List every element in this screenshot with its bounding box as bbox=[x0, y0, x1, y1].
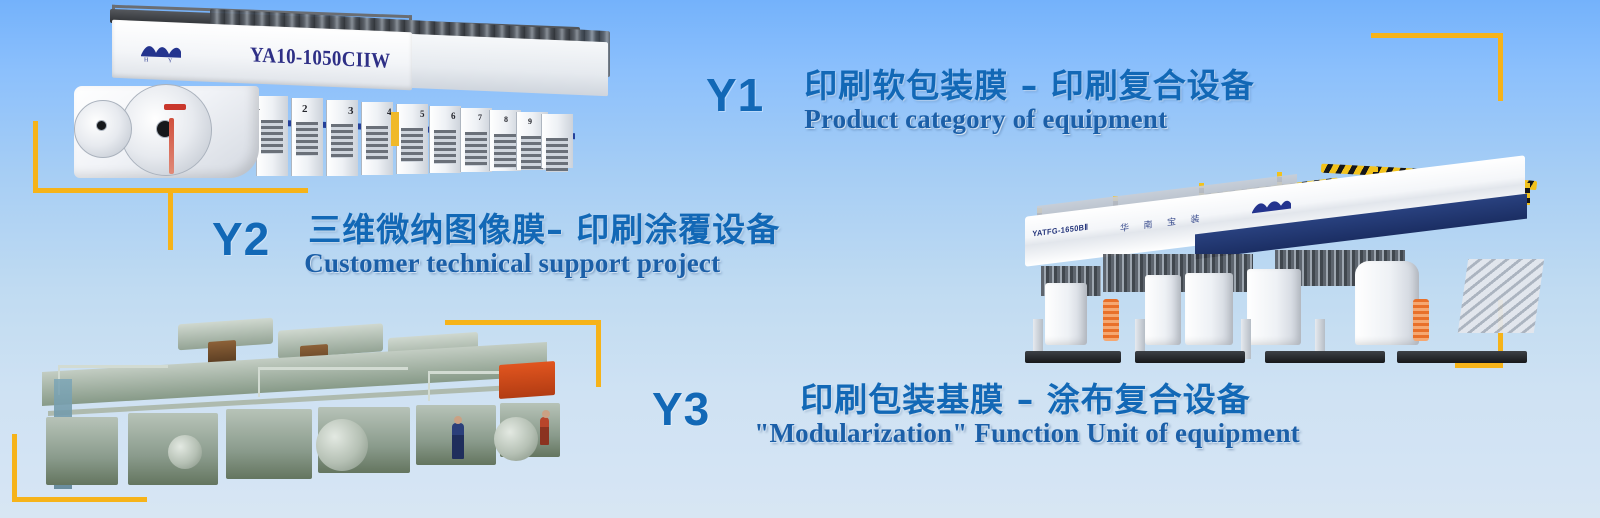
coater-operator-figure bbox=[452, 423, 464, 459]
entry-english-y1: Product category of equipment bbox=[804, 105, 1254, 133]
press-unit-number: 7 bbox=[478, 113, 482, 122]
bracket-y2-top-horizontal bbox=[168, 188, 308, 193]
bracket-y1-right-vertical bbox=[1498, 33, 1503, 101]
bracket-y2-left-vertical bbox=[168, 188, 173, 250]
bracket-y3-left-vertical bbox=[12, 434, 17, 502]
coater-base-frame bbox=[1025, 351, 1121, 363]
press-unit bbox=[460, 108, 492, 172]
bracket-y1-left-vertical bbox=[33, 121, 38, 193]
entry-code-y1: Y1 bbox=[706, 72, 764, 118]
machine-image-paper-coater bbox=[28, 305, 573, 490]
entry-english-y3: "Modularization" Function Unit of equipm… bbox=[754, 419, 1300, 447]
coater-drum bbox=[316, 419, 368, 471]
coater-cabinet bbox=[1355, 261, 1419, 345]
press-rear-housing bbox=[408, 34, 608, 96]
coater-cabinet bbox=[1185, 273, 1233, 345]
bracket-y1-bottom-horizontal bbox=[33, 188, 170, 193]
coater-lower-module bbox=[226, 409, 312, 479]
coater-base-frame bbox=[1135, 351, 1245, 363]
entry-text-y2: 三维微纳图像膜– 印刷涂覆设备 Customer technical suppo… bbox=[308, 212, 780, 277]
coater-drum bbox=[494, 417, 538, 461]
coater-drum bbox=[168, 435, 202, 469]
press-unit-number: 2 bbox=[302, 103, 308, 115]
coater-red-hood bbox=[499, 361, 555, 399]
product-banner: H Y YA10-1050CIIW 1 2 3 4 5 6 7 8 9 bbox=[0, 0, 1600, 518]
coater-operator-figure bbox=[540, 417, 549, 445]
entry-group-y2: Y2 三维微纳图像膜– 印刷涂覆设备 Customer technical su… bbox=[212, 216, 780, 277]
entry-text-y1: 印刷软包装膜 – 印刷复合设备 Product category of equi… bbox=[804, 68, 1254, 133]
entry-english-y2: Customer technical support project bbox=[304, 249, 780, 277]
press-unit-number: 3 bbox=[348, 105, 354, 117]
bracket-y1-top-horizontal bbox=[1371, 33, 1503, 38]
coater-cabinet bbox=[1145, 275, 1181, 345]
press-red-lever bbox=[164, 104, 186, 110]
press-unit bbox=[429, 106, 461, 173]
entry-group-y3: Y3 印刷包装基膜 – 涂布复合设备 "Modularization" Func… bbox=[652, 386, 1300, 447]
machine-image-coating-line: YATFG-1650BⅡ 华 南 宝 装 bbox=[985, 158, 1545, 363]
coater-walk-railing bbox=[58, 365, 168, 395]
bracket-y2-right-bottom bbox=[1455, 363, 1503, 368]
coater-orange-hose bbox=[1413, 299, 1429, 341]
machine-image-gravure-press: H Y YA10-1050CIIW 1 2 3 4 5 6 7 8 9 bbox=[60, 8, 620, 183]
coater-base-frame bbox=[1265, 351, 1385, 363]
press-unit-number: 9 bbox=[528, 117, 532, 126]
coater-access-stairs bbox=[1458, 259, 1544, 333]
svg-text:Y: Y bbox=[168, 58, 173, 63]
press-yellow-marker bbox=[391, 112, 399, 146]
entry-chinese-y1: 印刷软包装膜 – 印刷复合设备 bbox=[804, 68, 1254, 105]
coater-lower-module bbox=[46, 417, 118, 485]
bracket-y3-right-vertical bbox=[596, 320, 601, 387]
bracket-y3-bottom-horizontal bbox=[12, 497, 147, 502]
coater-base-frame bbox=[1397, 351, 1527, 363]
press-roll-hub-small bbox=[96, 120, 107, 131]
coater-walk-railing bbox=[258, 367, 408, 397]
coater-cabinet bbox=[1045, 283, 1087, 345]
entry-chinese-y2: 三维微纳图像膜– 印刷涂覆设备 bbox=[308, 212, 780, 249]
coater-cabinet bbox=[1247, 269, 1301, 345]
entry-code-y2: Y2 bbox=[212, 216, 270, 262]
press-unit-number: 5 bbox=[420, 109, 425, 119]
coater-orange-hose bbox=[1103, 299, 1119, 341]
press-unit bbox=[541, 114, 573, 168]
press-unit bbox=[256, 96, 288, 176]
entry-text-y3: 印刷包装基膜 – 涂布复合设备 "Modularization" Functio… bbox=[748, 382, 1300, 447]
press-unit-number: 8 bbox=[504, 115, 508, 124]
entry-group-y1: Y1 印刷软包装膜 – 印刷复合设备 Product category of e… bbox=[706, 72, 1255, 133]
press-unit-number: 6 bbox=[451, 111, 456, 121]
press-red-web bbox=[169, 118, 174, 174]
entry-code-y3: Y3 bbox=[652, 386, 710, 432]
press-brand-logo: H Y bbox=[138, 41, 184, 63]
entry-chinese-y3: 印刷包装基膜 – 涂布复合设备 bbox=[800, 382, 1300, 419]
